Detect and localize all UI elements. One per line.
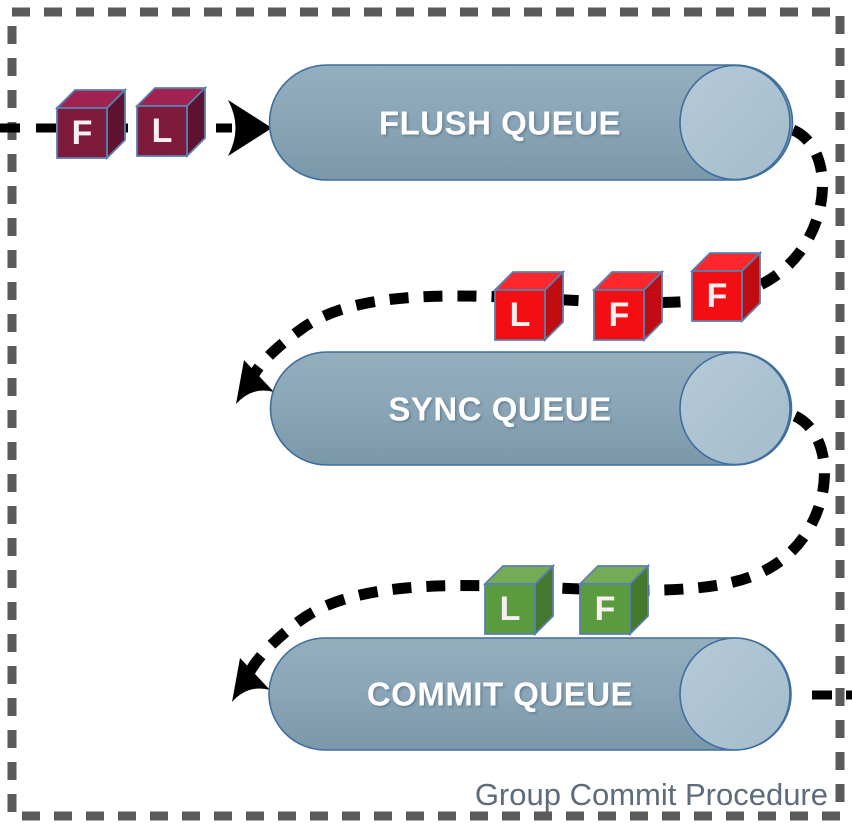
cube-flush-l[interactable]: L (137, 88, 205, 156)
flush-queue-label: FLUSH QUEUE (379, 105, 621, 142)
flush-queue[interactable]: FLUSH QUEUE (270, 65, 793, 180)
cube-sync-f1[interactable]: F (594, 272, 662, 340)
cube-letter: F (72, 114, 93, 152)
cube-letter: L (510, 296, 531, 334)
cube-sync-l[interactable]: L (495, 272, 563, 340)
commit-queue-label: COMMIT QUEUE (367, 676, 633, 713)
cube-commit-f[interactable]: F (580, 566, 648, 634)
cube-flush-f[interactable]: F (57, 90, 125, 158)
cube-letter: F (707, 277, 728, 315)
flush-queue-cap (680, 66, 790, 180)
cube-letter: L (152, 112, 173, 150)
cube-letter: L (500, 590, 521, 628)
group-caption: Group Commit Procedure (475, 777, 828, 812)
commit-queue-cap (680, 638, 790, 750)
cube-letter: F (609, 296, 630, 334)
inflow-arrow (0, 100, 272, 156)
diagram-canvas: FLUSH QUEUE SYNC QUEUE COMMIT QUEUE F (0, 0, 852, 828)
sync-queue-cap (680, 353, 790, 465)
group-commit-diagram: FLUSH QUEUE SYNC QUEUE COMMIT QUEUE F (0, 0, 852, 828)
sync-queue[interactable]: SYNC QUEUE (271, 352, 792, 465)
sync-queue-label: SYNC QUEUE (388, 391, 611, 428)
cube-sync-f2[interactable]: F (692, 253, 760, 321)
cube-commit-l[interactable]: L (485, 566, 553, 634)
commit-queue[interactable]: COMMIT QUEUE (269, 638, 791, 750)
cube-letter: F (595, 590, 616, 628)
